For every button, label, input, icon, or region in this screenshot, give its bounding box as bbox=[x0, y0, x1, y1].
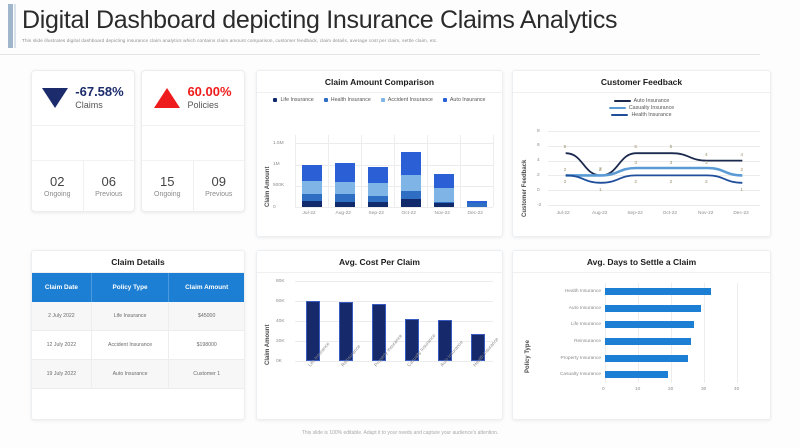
gridline bbox=[548, 205, 760, 206]
bar bbox=[605, 338, 691, 345]
vline bbox=[493, 135, 494, 207]
table-row: 12 July 2022Accident Insurance$198000 bbox=[32, 331, 244, 360]
xtick: Aug-22 bbox=[336, 211, 351, 216]
kpi-claims-spacer bbox=[32, 126, 134, 161]
data-label: 5 bbox=[564, 145, 567, 150]
triangle-up-icon bbox=[154, 88, 180, 108]
table-header-row: Claim Date Policy Type Claim Amount bbox=[32, 273, 244, 302]
legend-item-life-insurance: Life Insurance bbox=[273, 97, 313, 103]
avg-days-to-settle-bars bbox=[605, 283, 737, 383]
category-label: Casualty Insurance bbox=[543, 372, 601, 377]
panel-claim-details: Claim Details Claim Date Policy Type Cla… bbox=[31, 250, 245, 420]
legend-item-casualty-insurance-line: Casualty Insurance bbox=[609, 105, 674, 111]
dashboard-slide: Digital Dashboard depicting Insurance Cl… bbox=[0, 0, 800, 448]
ytick: 0K bbox=[276, 359, 282, 364]
panel-customer-feedback: Customer Feedback Auto Insurance Casualt… bbox=[512, 70, 771, 237]
customer-feedback-plot: Customer Feedback -202468 52554422333221… bbox=[513, 129, 770, 234]
category-label: Auto Insurance bbox=[543, 306, 601, 311]
kpi-policies-stat-previous: 09 Previous bbox=[193, 161, 245, 211]
stacked-bar bbox=[302, 165, 322, 207]
bar bbox=[605, 321, 694, 328]
data-label: 2 bbox=[705, 180, 708, 185]
table-cell: 19 July 2022 bbox=[32, 360, 91, 389]
xtick: Sep-22 bbox=[369, 211, 384, 216]
xtick: Jul-22 bbox=[557, 211, 570, 216]
line-series bbox=[566, 153, 743, 175]
gridline bbox=[737, 283, 738, 383]
data-label: 2 bbox=[564, 168, 567, 173]
claim-details-table-body: 2 July 2022Life Insurance$4500012 July 2… bbox=[32, 302, 244, 389]
legend-label-auto-insurance: Auto Insurance bbox=[450, 97, 486, 103]
legend-label-auto-insurance-line: Auto Insurance bbox=[634, 98, 670, 104]
gridline bbox=[295, 361, 493, 362]
legend-item-accident-insurance: Accident Insurance bbox=[381, 97, 433, 103]
bar-segment bbox=[434, 188, 454, 202]
panel-avg-cost-per-claim: Avg. Cost Per Claim Claim Amount 0K20K40… bbox=[256, 250, 503, 420]
triangle-down-icon bbox=[42, 88, 68, 108]
bar-segment bbox=[401, 152, 421, 176]
kpi-policies-previous-label: Previous bbox=[205, 191, 232, 198]
data-label: 3 bbox=[634, 161, 637, 166]
legend-item-auto-insurance: Auto Insurance bbox=[443, 97, 486, 103]
xtick: Oct-22 bbox=[402, 211, 416, 216]
xtick: Dec-22 bbox=[468, 211, 483, 216]
claim-amount-comparison-plot: Claim Amount 0500K1M1.5M Jul-22Aug-22Sep… bbox=[257, 129, 502, 234]
legend-label-casualty-insurance-line: Casualty Insurance bbox=[629, 105, 674, 111]
xtick: Oct-22 bbox=[663, 211, 677, 216]
xtick: 20 bbox=[668, 387, 673, 392]
category-label: Health Insurance bbox=[543, 289, 601, 294]
bar-segment bbox=[335, 182, 355, 193]
legend-item-health-insurance: Health Insurance bbox=[324, 97, 371, 103]
title-accent-bar-secondary bbox=[14, 4, 16, 48]
data-label: 3 bbox=[705, 161, 708, 166]
bar bbox=[605, 305, 701, 312]
bar-segment bbox=[302, 201, 322, 207]
page-subtitle: This slide illustrates digital dashboard… bbox=[22, 38, 762, 43]
kpi-card-policies: 60.00% Policies 15 Ongoing 09 Previous bbox=[141, 70, 245, 212]
customer-feedback-lines bbox=[548, 131, 760, 205]
stacked-bar bbox=[368, 167, 388, 207]
xtick: Aug-22 bbox=[592, 211, 607, 216]
xtick: Jul-22 bbox=[303, 211, 316, 216]
stacked-bar bbox=[401, 152, 421, 207]
avg-cost-per-claim-title: Avg. Cost Per Claim bbox=[257, 251, 502, 273]
avg-cost-per-claim-plot: Claim Amount 0K20K40K60K80K Life Insuran… bbox=[257, 273, 502, 419]
bar-segment bbox=[368, 183, 388, 196]
kpi-policies-ongoing-label: Ongoing bbox=[154, 191, 180, 198]
customer-feedback-title: Customer Feedback bbox=[513, 71, 770, 93]
claim-amount-comparison-bars bbox=[295, 135, 493, 207]
column-header-claim-date: Claim Date bbox=[32, 273, 91, 302]
xtick: Nov-22 bbox=[435, 211, 450, 216]
data-label: 4 bbox=[740, 153, 743, 158]
kpi-claims-stats: 02 Ongoing 06 Previous bbox=[32, 161, 134, 211]
legend-label-accident-insurance: Accident Insurance bbox=[388, 97, 433, 103]
ytick: 1M bbox=[273, 162, 280, 167]
bar-segment bbox=[335, 194, 355, 202]
column-header-policy-type: Policy Type bbox=[91, 273, 169, 302]
xtick: Dec-22 bbox=[733, 211, 748, 216]
category-label: Reinsurance bbox=[543, 339, 601, 344]
data-label: 1 bbox=[599, 188, 602, 193]
stacked-bar bbox=[335, 163, 355, 207]
kpi-policies-ongoing-value: 15 bbox=[160, 174, 174, 189]
data-label: 2 bbox=[670, 180, 673, 185]
bar-segment bbox=[401, 199, 421, 207]
footer-note: This slide is 100% editable. Adapt it to… bbox=[0, 430, 800, 436]
ytick: 500K bbox=[273, 183, 284, 188]
bar-segment bbox=[434, 174, 454, 188]
kpi-policies-stats: 15 Ongoing 09 Previous bbox=[142, 161, 244, 211]
kpi-claims-value: -67.58% bbox=[75, 85, 123, 99]
claim-amount-comparison-ylabel: Claim Amount bbox=[265, 167, 271, 207]
bar-segment bbox=[302, 194, 322, 201]
bar-segment bbox=[368, 202, 388, 207]
kpi-claims-previous-label: Previous bbox=[95, 191, 122, 198]
category-label: Life Insurance bbox=[543, 322, 601, 327]
data-label: 2 bbox=[564, 180, 567, 185]
table-cell: Auto Insurance bbox=[91, 360, 169, 389]
ytick: 0 bbox=[273, 205, 276, 210]
data-label: 2 bbox=[599, 168, 602, 173]
table-cell: Customer 1 bbox=[169, 360, 244, 389]
kpi-claims-previous-value: 06 bbox=[102, 174, 116, 189]
avg-days-to-settle-ylabel: Policy Type bbox=[525, 340, 531, 373]
data-label: 5 bbox=[670, 145, 673, 150]
ytick: 60K bbox=[276, 299, 285, 304]
kpi-policies-value: 60.00% bbox=[187, 85, 231, 99]
page-title: Digital Dashboard depicting Insurance Cl… bbox=[22, 6, 617, 35]
ytick: 20K bbox=[276, 339, 285, 344]
kpi-claims-ongoing-value: 02 bbox=[50, 174, 64, 189]
stacked-bar bbox=[467, 201, 487, 207]
header-divider bbox=[0, 54, 760, 55]
xtick: 30 bbox=[701, 387, 706, 392]
ytick: 4 bbox=[537, 158, 540, 163]
customer-feedback-ylabel: Customer Feedback bbox=[522, 160, 528, 217]
bar bbox=[605, 288, 711, 295]
kpi-policies-spacer bbox=[142, 126, 244, 161]
bar-segment bbox=[467, 203, 487, 207]
kpi-policies-label: Policies bbox=[187, 100, 231, 111]
legend-label-life-insurance: Life Insurance bbox=[280, 97, 313, 103]
kpi-policies-stat-ongoing: 15 Ongoing bbox=[142, 161, 193, 211]
kpi-policies-previous-value: 09 bbox=[212, 174, 226, 189]
data-label: 1 bbox=[740, 188, 743, 193]
kpi-claims-headline: -67.58% Claims bbox=[32, 71, 134, 126]
ytick: 80K bbox=[276, 279, 285, 284]
line-series bbox=[566, 168, 743, 175]
table-row: 19 July 2022Auto InsuranceCustomer 1 bbox=[32, 360, 244, 389]
avg-days-to-settle-plot: Policy Type Health InsuranceAuto Insuran… bbox=[513, 273, 770, 419]
ytick: -2 bbox=[537, 203, 541, 208]
legend-item-auto-insurance-line: Auto Insurance bbox=[614, 98, 670, 104]
data-label: 2 bbox=[634, 180, 637, 185]
claim-amount-comparison-legend: Life Insurance Health Insurance Accident… bbox=[257, 93, 502, 105]
kpi-claims-label: Claims bbox=[75, 100, 123, 111]
bar-segment bbox=[335, 163, 355, 182]
data-label: 3 bbox=[670, 161, 673, 166]
bar-segment bbox=[302, 181, 322, 194]
panel-claim-amount-comparison: Claim Amount Comparison Life Insurance H… bbox=[256, 70, 503, 237]
kpi-claims-stat-previous: 06 Previous bbox=[83, 161, 135, 211]
column-header-claim-amount: Claim Amount bbox=[169, 273, 244, 302]
legend-label-health-insurance-line: Health Insurance bbox=[631, 112, 671, 118]
legend-item-health-insurance-line: Health Insurance bbox=[611, 112, 671, 118]
bar-segment bbox=[401, 175, 421, 190]
bar-segment bbox=[434, 203, 454, 207]
gridline bbox=[295, 207, 493, 208]
avg-cost-per-claim-ylabel: Claim Amount bbox=[265, 325, 271, 365]
ytick: 40K bbox=[276, 319, 285, 324]
panel-avg-days-to-settle: Avg. Days to Settle a Claim Policy Type … bbox=[512, 250, 771, 420]
ytick: 6 bbox=[537, 143, 540, 148]
table-cell: $45000 bbox=[169, 302, 244, 331]
ytick: 0 bbox=[537, 188, 540, 193]
table-cell: 2 July 2022 bbox=[32, 302, 91, 331]
title-accent-bar bbox=[8, 4, 13, 48]
xtick: Sep-22 bbox=[627, 211, 642, 216]
xtick: 10 bbox=[635, 387, 640, 392]
kpi-card-claims: -67.58% Claims 02 Ongoing 06 Previous bbox=[31, 70, 135, 212]
customer-feedback-legend: Auto Insurance Casualty Insurance Health… bbox=[513, 93, 770, 120]
ytick: 1.5M bbox=[273, 141, 284, 146]
xtick: Nov-22 bbox=[698, 211, 713, 216]
xtick: 0 bbox=[602, 387, 605, 392]
ytick: 2 bbox=[537, 173, 540, 178]
bar-segment bbox=[401, 191, 421, 199]
table-cell: 12 July 2022 bbox=[32, 331, 91, 360]
stacked-bar bbox=[434, 174, 454, 207]
legend-label-health-insurance: Health Insurance bbox=[331, 97, 371, 103]
bar bbox=[605, 371, 668, 378]
ytick: 8 bbox=[537, 129, 540, 134]
table-row: 2 July 2022Life Insurance$45000 bbox=[32, 302, 244, 331]
table-cell: Accident Insurance bbox=[91, 331, 169, 360]
xtick: 40 bbox=[734, 387, 739, 392]
bar bbox=[605, 355, 688, 362]
category-label: Property Insurance bbox=[543, 356, 601, 361]
table-cell: $198000 bbox=[169, 331, 244, 360]
data-label: 2 bbox=[740, 168, 743, 173]
kpi-policies-headline: 60.00% Policies bbox=[142, 71, 244, 126]
claim-details-table: Claim Date Policy Type Claim Amount 2 Ju… bbox=[32, 273, 244, 389]
bar-segment bbox=[302, 165, 322, 181]
bar-segment bbox=[368, 167, 388, 183]
avg-days-to-settle-title: Avg. Days to Settle a Claim bbox=[513, 251, 770, 273]
table-cell: Life Insurance bbox=[91, 302, 169, 331]
kpi-claims-stat-ongoing: 02 Ongoing bbox=[32, 161, 83, 211]
bar-segment bbox=[335, 202, 355, 208]
data-label: 4 bbox=[705, 153, 708, 158]
kpi-claims-ongoing-label: Ongoing bbox=[44, 191, 70, 198]
claim-details-title: Claim Details bbox=[32, 251, 244, 273]
data-label: 5 bbox=[634, 145, 637, 150]
claim-amount-comparison-title: Claim Amount Comparison bbox=[257, 71, 502, 93]
